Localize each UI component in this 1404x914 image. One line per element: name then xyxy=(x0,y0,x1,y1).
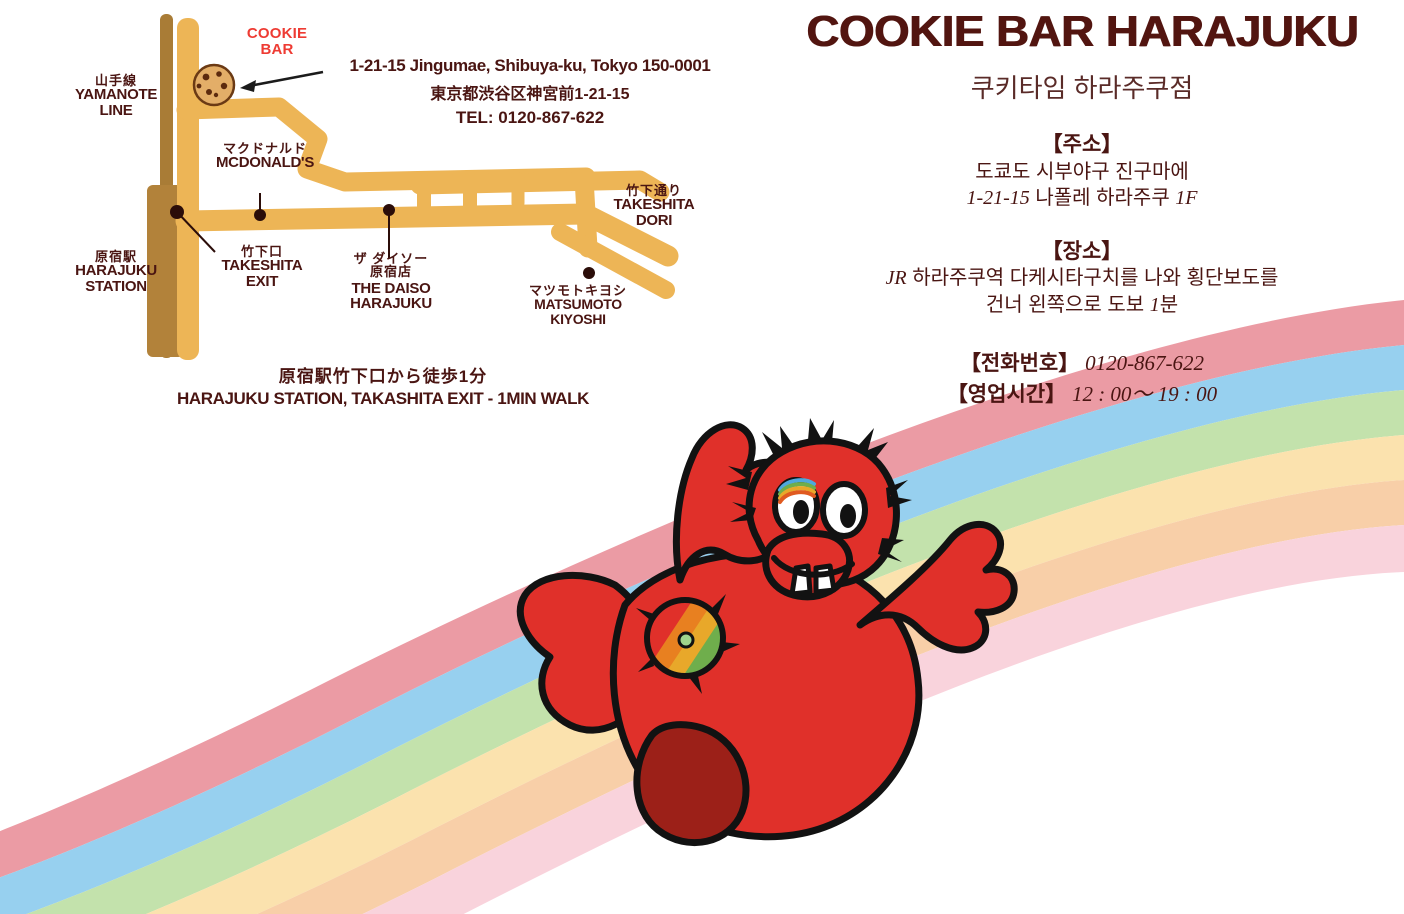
mascot-illustration xyxy=(430,380,1030,880)
harajuku-station-en1: HARAJUKU xyxy=(58,263,174,278)
cookie-bar-marker[interactable] xyxy=(194,65,234,105)
location-map: COOKIE BAR 1-21-15 Jingumae, Shibuya-ku,… xyxy=(0,0,760,430)
place-line-1: JR 하라주쿠역 다케시타구치를 나와 횡단보도를 xyxy=(760,265,1404,291)
map-address-callout: 1-21-15 Jingumae, Shibuya-ku, Tokyo 150-… xyxy=(320,56,740,128)
harajuku-station-jp: 原宿駅 xyxy=(58,250,174,263)
cookie-bar-tag-line1: COOKIE xyxy=(222,26,332,42)
poi-dot-matsumoto xyxy=(583,267,595,279)
mascot-lower-foot xyxy=(637,725,746,843)
mascot-left-pupil xyxy=(793,500,809,524)
map-label-harajuku-station: 原宿駅 HARAJUKU STATION xyxy=(58,250,174,294)
poster-canvas: COOKIE BAR 1-21-15 Jingumae, Shibuya-ku,… xyxy=(0,0,1404,914)
yamanote-line-jp: 山手線 xyxy=(62,74,170,87)
store-info-panel: COOKIE BAR HARAJUKU 쿠키타임 하라주쿠점 【주소】 도쿄도 … xyxy=(760,0,1404,410)
mcdonalds-en: MCDONALD'S xyxy=(200,155,330,170)
address-building: 나폴레 하라주쿠 xyxy=(1035,187,1169,209)
address-number: 1-21-15 xyxy=(966,187,1029,209)
callout-arrow xyxy=(240,72,323,92)
address-floor: 1F xyxy=(1175,187,1197,209)
takeshita-exit-en1: TAKESHITA xyxy=(204,258,320,273)
place-line-2-text: 건너 왼쪽으로 도보 xyxy=(986,294,1144,316)
map-label-takeshita-dori: 竹下通り TAKESHITA DORI xyxy=(592,184,716,228)
place-block: 【장소】 JR 하라주쿠역 다케시타구치를 나와 횡단보도를 건너 왼쪽으로 도… xyxy=(760,238,1404,319)
road-vertical-main xyxy=(177,18,199,360)
place-walk-minutes: 1 xyxy=(1150,294,1160,316)
map-label-the-daiso: ザ ダイソー 原宿店 THE DAISO HARAJUKU xyxy=(330,252,452,312)
address-block: 【주소】 도쿄도 시부야구 진구마에 1-21-15 나폴레 하라주쿠 1F xyxy=(760,131,1404,212)
callout-address-jp: 東京都渋谷区神宮前1-21-15 xyxy=(320,80,740,104)
daiso-en1: THE DAISO xyxy=(330,281,452,296)
daiso-jp1: ザ ダイソー xyxy=(330,252,452,265)
mcdonalds-jp: マクドナルド xyxy=(200,142,330,155)
takeshita-dori-jp: 竹下通り xyxy=(592,184,716,197)
takeshita-exit-en2: EXIT xyxy=(204,274,320,289)
yamanote-line-en2: LINE xyxy=(62,103,170,118)
address-heading: 【주소】 xyxy=(760,131,1404,159)
hours-value: 12 : 00〜 19 : 00 xyxy=(1072,382,1217,406)
matsumoto-jp: マツモトキヨシ xyxy=(508,284,648,297)
takeshita-dori-en2: DORI xyxy=(592,213,716,228)
mascot-belly-swirl-center xyxy=(679,633,693,647)
place-jr-mark: JR xyxy=(886,267,907,289)
matsumoto-en1: MATSUMOTO xyxy=(508,297,648,311)
daiso-en2: HARAJUKU xyxy=(330,296,452,311)
takeshita-dori-en1: TAKESHITA xyxy=(592,197,716,212)
mascot-right-pupil xyxy=(840,504,856,528)
phone-row: 【전화번호】 0120-867-622 xyxy=(760,348,1404,379)
matsumoto-en2: KIYOSHI xyxy=(508,312,648,326)
callout-address-en: 1-21-15 Jingumae, Shibuya-ku, Tokyo 150-… xyxy=(320,56,740,76)
phone-value[interactable]: 0120-867-622 xyxy=(1085,351,1204,375)
place-minute-suffix: 분 xyxy=(1160,294,1178,316)
page-title: COOKIE BAR HARAJUKU xyxy=(747,10,1404,54)
place-line-2: 건너 왼쪽으로 도보 1분 xyxy=(760,292,1404,318)
map-label-takeshita-exit: 竹下口 TAKESHITA EXIT xyxy=(204,245,320,289)
page-subtitle: 쿠키타임 하라주쿠점 xyxy=(760,68,1404,105)
yamanote-line-en1: YAMANOTE xyxy=(62,87,170,102)
cookie-bar-tag-line2: BAR xyxy=(222,42,332,58)
map-label-matsumoto-kiyoshi: マツモトキヨシ MATSUMOTO KIYOSHI xyxy=(508,284,648,326)
daiso-jp2: 原宿店 xyxy=(330,265,452,278)
address-line-1: 도쿄도 시부야구 진구마에 xyxy=(760,159,1404,185)
cookie-bar-tag: COOKIE BAR xyxy=(222,26,332,58)
place-line-1-text: 하라주쿠역 다케시타구치를 나와 횡단보도를 xyxy=(912,267,1278,289)
map-label-mcdonalds: マクドナルド MCDONALD'S xyxy=(200,142,330,171)
place-heading: 【장소】 xyxy=(760,238,1404,266)
phone-label: 【전화번호】 xyxy=(960,352,1079,375)
harajuku-station-en2: STATION xyxy=(58,279,174,294)
takeshita-exit-jp: 竹下口 xyxy=(204,245,320,258)
map-label-yamanote-line: 山手線 YAMANOTE LINE xyxy=(62,74,170,118)
callout-tel: TEL: 0120-867-622 xyxy=(320,108,740,128)
address-line-2: 1-21-15 나폴레 하라주쿠 1F xyxy=(760,185,1404,211)
